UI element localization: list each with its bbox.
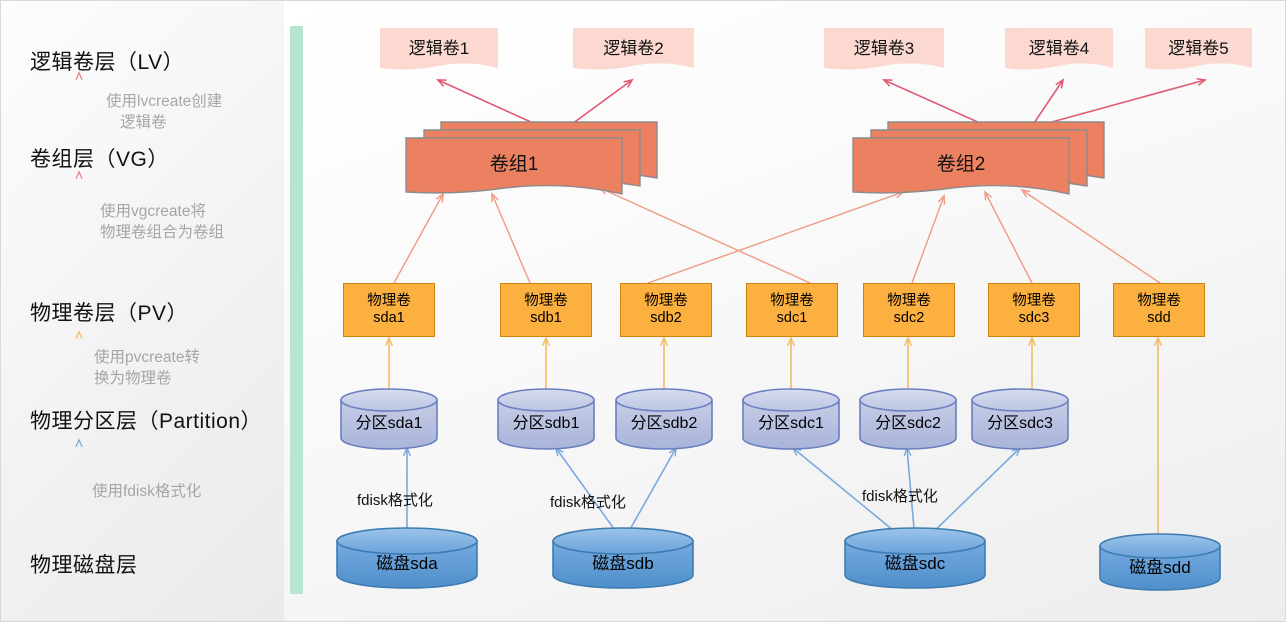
lvm-architecture-diagram: 逻辑卷层（LV） 卷组层（VG） 物理卷层（PV） 物理分区层（Partitio… <box>0 0 1286 622</box>
partition-sdb2-label: 分区sdb2 <box>631 409 698 433</box>
partition-sdc1-label: 分区sdc1 <box>758 409 824 433</box>
logical-volume-lv4-label: 逻辑卷4 <box>1029 34 1089 65</box>
disk-sdc-label-wrap[interactable]: 磁盘sdc <box>845 548 985 574</box>
disk-sdb-label: 磁盘sdb <box>592 549 653 574</box>
disk-sdc-label: 磁盘sdc <box>885 549 945 574</box>
edge-note-fdisk-sdc: fdisk格式化 <box>862 485 938 506</box>
volume-group-vg2-label: 卷组2 <box>937 149 986 180</box>
logical-volume-lv2-label: 逻辑卷2 <box>603 34 663 65</box>
partition-sdb1-label-wrap[interactable]: 分区sdb1 <box>498 408 594 434</box>
edge-note-fdisk-sdb: fdisk格式化 <box>550 491 626 512</box>
partition-sda1-label-wrap[interactable]: 分区sda1 <box>341 408 437 434</box>
volume-group-vg1-label: 卷组1 <box>490 149 539 180</box>
partition-sdc2-label: 分区sdc2 <box>875 409 941 433</box>
logical-volume-lv1-label: 逻辑卷1 <box>409 34 469 65</box>
partition-sdc3-label: 分区sdc3 <box>987 409 1053 433</box>
disk-sdd-label: 磁盘sdd <box>1129 553 1190 578</box>
partition-shapes <box>0 0 1286 622</box>
logical-volume-lv5-label: 逻辑卷5 <box>1168 34 1228 65</box>
disk-sdd-label-wrap[interactable]: 磁盘sdd <box>1100 552 1220 578</box>
partition-sdb1-label: 分区sdb1 <box>513 409 580 433</box>
partition-sdc1-label-wrap[interactable]: 分区sdc1 <box>743 408 839 434</box>
partition-sdc3-label-wrap[interactable]: 分区sdc3 <box>972 408 1068 434</box>
partition-sda1-label: 分区sda1 <box>356 409 423 433</box>
partition-sdb2-label-wrap[interactable]: 分区sdb2 <box>616 408 712 434</box>
disk-sda-label: 磁盘sda <box>376 549 437 574</box>
disk-sdb-label-wrap[interactable]: 磁盘sdb <box>553 548 693 574</box>
logical-volume-lv3-label: 逻辑卷3 <box>854 34 914 65</box>
disk-sda-label-wrap[interactable]: 磁盘sda <box>337 548 477 574</box>
partition-sdc2-label-wrap[interactable]: 分区sdc2 <box>860 408 956 434</box>
edge-note-fdisk-sda: fdisk格式化 <box>357 489 433 510</box>
